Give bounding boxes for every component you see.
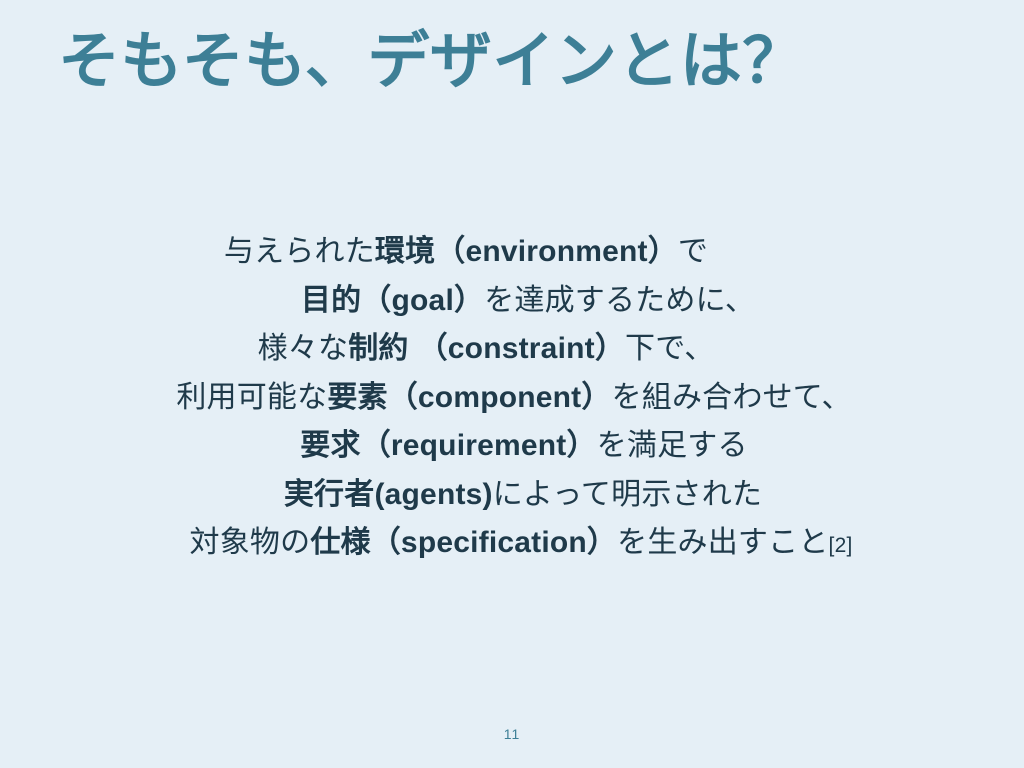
body-line-5-trail: を満足する xyxy=(597,429,748,462)
body-line-7-lead: 対象物の xyxy=(190,526,311,559)
body-line-2-trail: を達成するために、 xyxy=(484,284,755,317)
slide-title: そもそも、デザインとは？ xyxy=(58,26,805,97)
body-line-4-keyword: 要素（component） xyxy=(327,381,611,414)
body-line-6-trail: によって明示された xyxy=(493,478,762,511)
body-line-5-keyword: 要求（requirement） xyxy=(300,429,596,462)
body-line-3-lead: 様々な xyxy=(258,332,349,365)
citation-marker: [2] xyxy=(829,534,853,557)
slide-body: 与えられた環境（environment）で 目的（goal）を達成するために、 … xyxy=(0,228,1024,571)
body-line-5: 要求（requirement）を満足する xyxy=(0,422,1024,471)
body-line-1-keyword: 環境（environment） xyxy=(375,235,678,268)
body-line-6-keyword: 実行者(agents) xyxy=(284,478,493,511)
body-line-1-lead: 与えられた xyxy=(224,235,375,268)
body-line-3-keyword-b: （constraint） xyxy=(418,332,625,365)
body-line-2-keyword: 目的（goal） xyxy=(301,284,484,317)
slide: そもそも、デザインとは？ 与えられた環境（environment）で 目的（go… xyxy=(0,0,1024,768)
body-line-7-trail: を生み出すこと xyxy=(617,526,828,559)
body-line-3-keyword-a: 制約 xyxy=(348,332,408,365)
body-line-2: 目的（goal）を達成するために、 xyxy=(0,277,1024,326)
body-line-7: 対象物の仕様（specification）を生み出すこと[2] xyxy=(0,519,1024,571)
body-line-6: 実行者(agents)によって明示された xyxy=(0,471,1024,520)
body-line-1-trail: で xyxy=(678,235,708,268)
page-number: 11 xyxy=(0,726,1024,742)
body-line-3: 様々な制約（constraint）下で、 xyxy=(0,325,1024,374)
body-line-4-lead: 利用可能な xyxy=(176,381,327,414)
body-line-7-keyword: 仕様（specification） xyxy=(310,526,617,559)
body-line-3-trail: 下で、 xyxy=(625,332,714,365)
body-line-4-trail: を組み合わせて、 xyxy=(612,381,852,414)
body-line-4: 利用可能な要素（component）を組み合わせて、 xyxy=(0,374,1024,423)
body-line-1: 与えられた環境（environment）で xyxy=(0,228,1024,277)
